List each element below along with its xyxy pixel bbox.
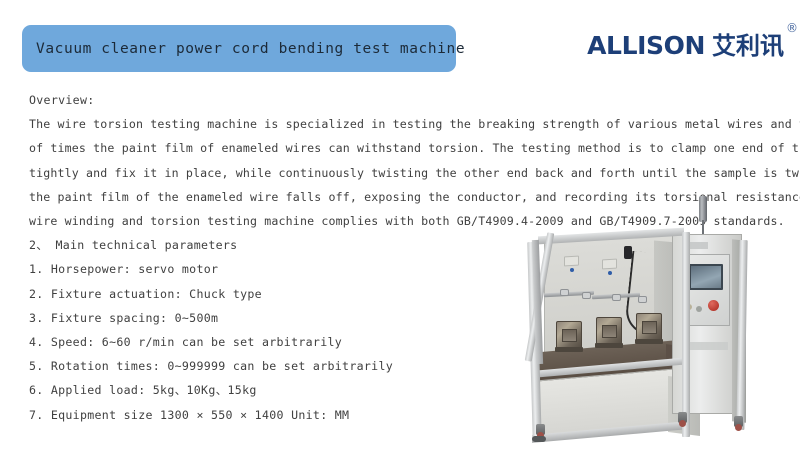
socket-2 (602, 259, 617, 270)
socket-1 (564, 256, 579, 267)
specimen-fixture-2 (596, 317, 622, 345)
fixture-base-1 (555, 347, 583, 352)
registered-trademark-icon: ® (786, 22, 798, 34)
overview-line-1: The wire torsion testing machine is spec… (29, 112, 777, 136)
brand-logo: ALLISON 艾利讯 ® (587, 33, 784, 69)
overview-label: Overview: (29, 88, 777, 112)
test-machine-illustration (516, 196, 786, 448)
socket-indicator-1 (570, 268, 574, 272)
page-title: Vacuum cleaner power cord bending test m… (36, 41, 465, 57)
page-title-banner: Vacuum cleaner power cord bending test m… (22, 25, 456, 72)
tower-lamp-icon (699, 196, 707, 222)
product-photo (516, 196, 786, 448)
rail-clamp-2 (582, 292, 591, 299)
logo-text-cn: 艾利讯 (712, 34, 784, 58)
hmi-touchscreen[interactable] (689, 264, 723, 290)
logo-wrap: ALLISON 艾利讯 ® (587, 33, 784, 58)
fixture-base-2 (595, 343, 623, 348)
socket-indicator-2 (608, 271, 612, 275)
control-panel-nameplate (684, 342, 728, 350)
leveling-foot-left (532, 436, 546, 442)
rail-clamp-1 (560, 289, 569, 296)
product-detail-page: Vacuum cleaner power cord bending test m… (0, 0, 800, 450)
specimen-fixture-3 (636, 313, 662, 341)
overview-line-2: of times the paint film of enameled wire… (29, 136, 777, 160)
overview-line-3: tightly and fix it in place, while conti… (29, 161, 777, 185)
frame-post-back-left (682, 232, 690, 437)
rail-clamp-3 (612, 294, 621, 301)
specimen-fixture-1 (556, 321, 582, 349)
control-button-2[interactable] (696, 306, 702, 312)
caster-hub-back-left (679, 420, 686, 427)
logo-text-en: ALLISON (587, 33, 705, 58)
rail-clamp-4 (638, 296, 647, 303)
emergency-stop-button[interactable] (708, 300, 719, 311)
caster-hub-back-right (735, 424, 742, 431)
fixture-base-3 (635, 339, 663, 344)
